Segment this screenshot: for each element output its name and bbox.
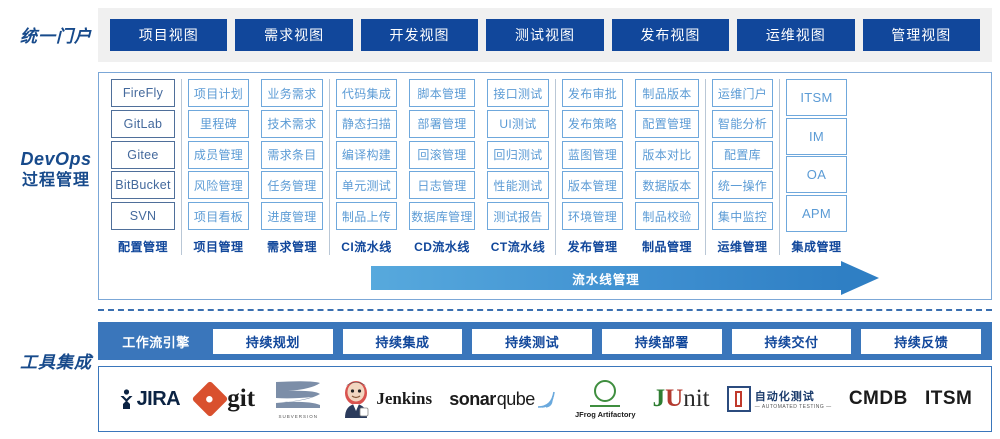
devops-cell[interactable]: 集中监控 [712,202,773,230]
devops-cell[interactable]: 发布审批 [562,79,623,107]
devops-group-row: FireFly GitLab Gitee BitBucket SVN 配置管理 … [105,79,985,255]
devops-cell[interactable]: 配置管理 [635,110,699,138]
devops-group-requirement: 业务需求 技术需求 需求条目 任务管理 进度管理 需求管理 [255,79,329,255]
workflow-engine-bar: 工作流引擎 持续规划 持续集成 持续测试 持续部署 持续交付 持续反馈 [98,322,992,360]
subversion-logo: SUBVERSION [272,375,324,423]
automated-testing-logo-label-cn: 自动化测试 [755,388,832,404]
tool-logo-bar: JIRA ● git SUBVERSION [98,366,992,432]
portal-button-requirement[interactable]: 需求视图 [235,19,352,51]
devops-cell[interactable]: 日志管理 [409,171,475,199]
portal-button-management[interactable]: 管理视图 [863,19,980,51]
devops-cell[interactable]: 里程碑 [188,110,249,138]
devops-cell[interactable]: 智能分析 [712,110,773,138]
jira-logo-label: JIRA [137,388,181,411]
jenkins-butler-icon [341,380,371,418]
junit-logo-label-j: J [653,385,666,413]
rail-label-portal: 统一门户 [8,26,104,47]
pipeline-arrow: 流水线管理 [371,266,881,290]
automated-testing-text: 自动化测试 — AUTOMATED TESTING — [755,388,832,410]
portal-bar: 项目视图 需求视图 开发视图 测试视图 发布视图 运维视图 管理视图 [98,8,992,62]
devops-cell[interactable]: 技术需求 [261,110,323,138]
devops-cell[interactable]: FireFly [111,79,175,107]
devops-cell[interactable]: 进度管理 [261,202,323,230]
git-logo: ● git [197,375,255,423]
devops-group-title: CI流水线 [336,238,397,255]
subversion-logo-label: SUBVERSION [278,414,318,419]
devops-cell[interactable]: SVN [111,202,175,230]
jenkins-logo-label: Jenkins [376,389,432,409]
workflow-stage-integration[interactable]: 持续集成 [343,329,463,354]
sonarqube-logo-label-light: qube [497,389,535,410]
portal-button-development[interactable]: 开发视图 [361,19,478,51]
devops-cell[interactable]: 业务需求 [261,79,323,107]
jenkins-logo: Jenkins [341,375,432,423]
sonarqube-logo: sonar qube [449,375,558,423]
devops-cell[interactable]: 部署管理 [409,110,475,138]
devops-cell[interactable]: APM [786,195,847,232]
devops-cell[interactable]: 制品版本 [635,79,699,107]
workflow-engine-label: 工作流引擎 [104,332,208,351]
devops-cell[interactable]: Gitee [111,141,175,169]
subversion-mark-icon [272,379,324,413]
git-logo-label: git [227,385,255,413]
devops-group-title: 制品管理 [635,238,699,255]
devops-cell[interactable]: 配置库 [712,141,773,169]
devops-cell[interactable]: OA [786,156,847,193]
devops-cell[interactable]: ITSM [786,79,847,116]
devops-cell[interactable]: 制品上传 [336,202,397,230]
devops-cell[interactable]: 单元测试 [336,171,397,199]
itsm-logo: ITSM [925,375,972,423]
section-divider [98,309,992,311]
devops-cell[interactable]: 接口测试 [487,79,549,107]
devops-group-title: 发布管理 [562,238,623,255]
devops-cell[interactable]: GitLab [111,110,175,138]
jfrog-bar-icon [590,405,620,407]
git-mark-icon: ● [192,381,229,418]
devops-cell[interactable]: 数据版本 [635,171,699,199]
junit-logo-label-rest: nit [683,385,709,413]
automated-testing-mark-icon [727,386,751,412]
devops-group-config: FireFly GitLab Gitee BitBucket SVN 配置管理 [105,79,181,255]
devops-cell[interactable]: 环境管理 [562,202,623,230]
devops-cell[interactable]: 成员管理 [188,141,249,169]
junit-logo-label-u: U [665,385,683,413]
devops-cell[interactable]: 项目看板 [188,202,249,230]
devops-cell[interactable]: 蓝图管理 [562,141,623,169]
devops-cell[interactable]: BitBucket [111,171,175,199]
portal-button-test[interactable]: 测试视图 [486,19,603,51]
jfrog-artifactory-logo-label: JFrog Artifactory [575,410,636,419]
workflow-stage-deployment[interactable]: 持续部署 [602,329,722,354]
devops-cell[interactable]: 任务管理 [261,171,323,199]
devops-cell[interactable]: 运维门户 [712,79,773,107]
devops-group-title: 项目管理 [188,238,249,255]
devops-group-ct: 接口测试 UI测试 回归测试 性能测试 测试报告 CT流水线 [481,79,555,255]
automated-testing-logo: 自动化测试 — AUTOMATED TESTING — [727,375,832,423]
devops-cell[interactable]: 性能测试 [487,171,549,199]
devops-group-project: 项目计划 里程碑 成员管理 风险管理 项目看板 项目管理 [181,79,255,255]
devops-cell[interactable]: 测试报告 [487,202,549,230]
devops-group-integration: ITSM IM OA APM 集成管理 [779,79,853,255]
rail-label-devops-en: DevOps [4,148,108,171]
pipeline-arrow-bar: 流水线管理 [371,266,841,290]
devops-panel: FireFly GitLab Gitee BitBucket SVN 配置管理 … [98,72,992,300]
portal-button-release[interactable]: 发布视图 [612,19,729,51]
devops-cell[interactable]: 版本管理 [562,171,623,199]
devops-cell[interactable]: 需求条目 [261,141,323,169]
automated-testing-logo-label-en: — AUTOMATED TESTING — [755,404,832,410]
devops-group-title: 配置管理 [111,238,175,255]
workflow-stage-testing[interactable]: 持续测试 [472,329,592,354]
devops-cell[interactable]: UI测试 [487,110,549,138]
devops-cell[interactable]: 风险管理 [188,171,249,199]
devops-cell[interactable]: 脚本管理 [409,79,475,107]
devops-cell[interactable]: 编译构建 [336,141,397,169]
pipeline-arrow-head [841,261,879,295]
jira-mark-icon [118,388,135,410]
rail-label-tools: 工具集成 [8,352,104,373]
devops-group-operations: 运维门户 智能分析 配置库 统一操作 集中监控 运维管理 [705,79,779,255]
devops-cell[interactable]: 回滚管理 [409,141,475,169]
sonarqube-waves-icon [536,389,558,409]
devops-group-title: 运维管理 [712,238,773,255]
devops-group-title: 需求管理 [261,238,323,255]
devops-group-title: CT流水线 [487,238,549,255]
junit-logo: JUnit [653,375,710,423]
devops-cell[interactable]: 数据库管理 [409,202,475,230]
devops-group-artifact: 制品版本 配置管理 版本对比 数据版本 制品校验 制品管理 [629,79,705,255]
devops-group-ci: 代码集成 静态扫描 编译构建 单元测试 制品上传 CI流水线 [329,79,403,255]
jira-logo: JIRA [118,375,181,423]
portal-button-project[interactable]: 项目视图 [110,19,227,51]
devops-group-cd: 脚本管理 部署管理 回滚管理 日志管理 数据库管理 CD流水线 [403,79,481,255]
jfrog-ring-icon [594,380,616,402]
devops-cell[interactable]: 代码集成 [336,79,397,107]
cmdb-logo: CMDB [849,375,908,423]
devops-cell[interactable]: 发布策略 [562,110,623,138]
devops-cell[interactable]: 回归测试 [487,141,549,169]
portal-button-operations[interactable]: 运维视图 [737,19,854,51]
pipeline-arrow-label: 流水线管理 [572,269,640,288]
devops-cell[interactable]: 项目计划 [188,79,249,107]
workflow-stage-delivery[interactable]: 持续交付 [732,329,852,354]
sonarqube-logo-label-bold: sonar [449,389,496,410]
devops-cell[interactable]: 静态扫描 [336,110,397,138]
rail-label-devops-cn: 过程管理 [4,171,108,191]
workflow-stage-feedback[interactable]: 持续反馈 [861,329,981,354]
devops-cell[interactable]: 制品校验 [635,202,699,230]
devops-architecture-diagram: 统一门户 DevOps 过程管理 工具集成 项目视图 需求视图 开发视图 测试视… [0,0,1000,439]
devops-group-title: 集成管理 [786,238,847,255]
devops-cell[interactable]: 统一操作 [712,171,773,199]
devops-cell[interactable]: 版本对比 [635,141,699,169]
rail-label-devops: DevOps 过程管理 [4,148,108,191]
devops-group-title: CD流水线 [409,238,475,255]
jfrog-artifactory-logo: JFrog Artifactory [575,375,636,423]
devops-cell[interactable]: IM [786,118,847,155]
devops-group-release: 发布审批 发布策略 蓝图管理 版本管理 环境管理 发布管理 [555,79,629,255]
workflow-stage-planning[interactable]: 持续规划 [213,329,333,354]
